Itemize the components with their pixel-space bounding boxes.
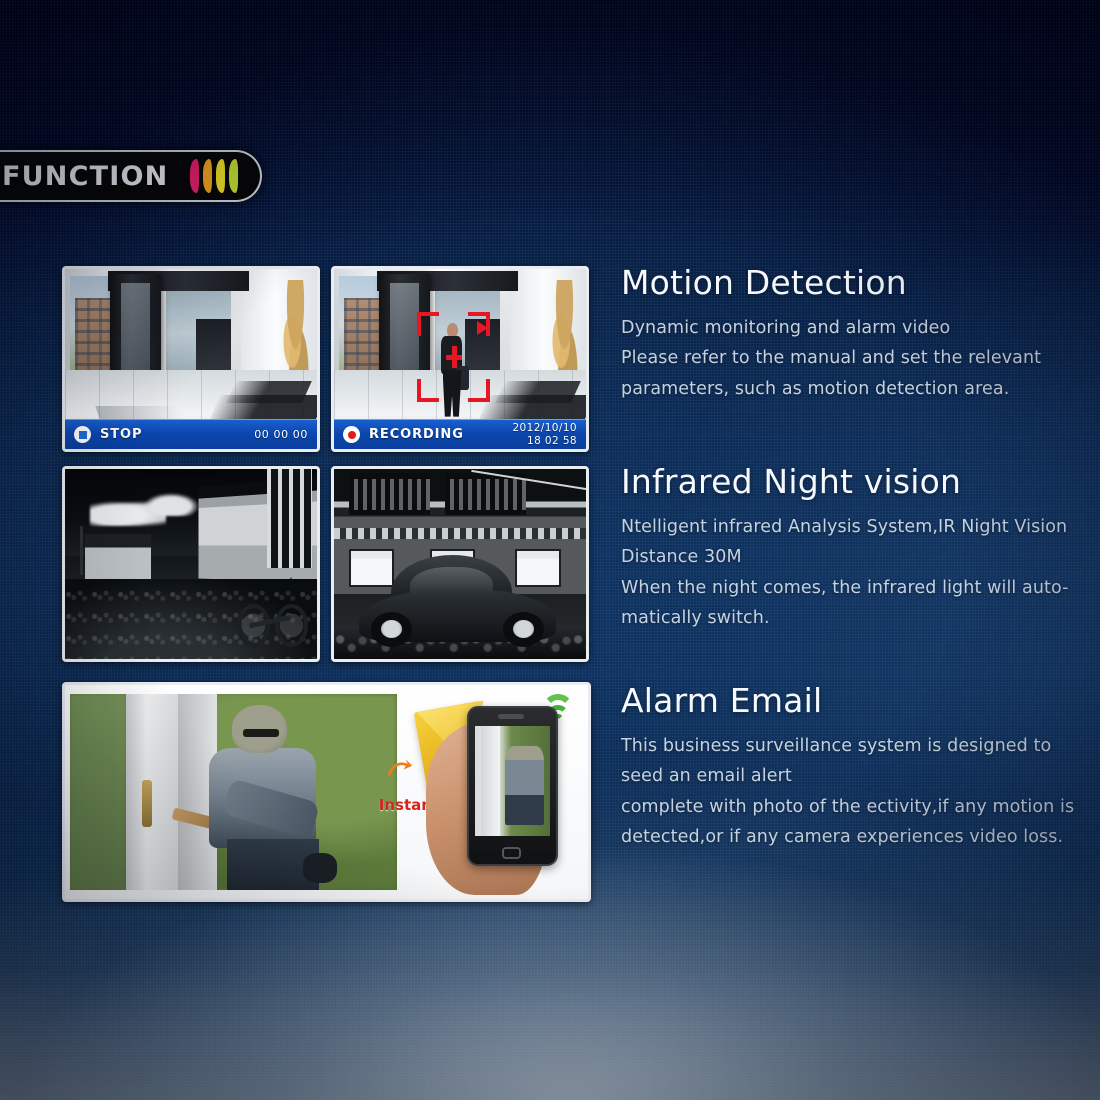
balcony-right — [445, 473, 526, 515]
hallway-motion-frame[interactable]: RECORDING 2012/10/10 18 02 58 — [331, 266, 589, 452]
bracket-bottom-left — [417, 379, 439, 402]
burglar-glove — [303, 853, 337, 883]
bracket-top-left — [417, 312, 439, 335]
distant-house — [85, 534, 151, 580]
utility-pole — [80, 526, 83, 575]
recording-date: 2012/10/10 — [512, 422, 577, 434]
alarm-email-graphic: Instant Email — [65, 685, 588, 899]
feature-line-2: Please refer to the manual and set the r… — [621, 343, 1083, 373]
player-status-bar-recording: RECORDING 2012/10/10 18 02 58 — [334, 419, 586, 449]
balcony-left — [349, 473, 430, 515]
player-timestamp: 2012/10/10 18 02 58 — [512, 422, 577, 447]
parked-car — [359, 558, 556, 642]
player-timecode: 00 00 00 — [254, 428, 308, 441]
burglar-photo — [70, 694, 397, 891]
striped-awning — [334, 528, 586, 539]
record-indicator-icon — [343, 426, 360, 443]
phone-home-button[interactable] — [502, 847, 521, 859]
hand-holding-phone — [426, 689, 583, 894]
bike-wheel-rear — [275, 604, 308, 646]
night-vision-car-photo — [334, 469, 586, 659]
feature-line-2: seed an email alert — [621, 761, 1093, 791]
player-state-label: RECORDING — [369, 427, 464, 442]
feature-line-4: detected,or if any camera experiences vi… — [621, 822, 1093, 852]
player-status-bar-stop: STOP 00 00 00 — [65, 419, 317, 449]
bicycle — [234, 581, 310, 649]
feature-page: FUNCTION — [0, 0, 1100, 1100]
night-street-frame[interactable] — [62, 466, 320, 662]
door-handle — [142, 780, 152, 827]
arrow-to-envelope-icon — [381, 758, 418, 777]
phone-screen — [475, 726, 550, 835]
feature-line-2: Distance 30M — [621, 542, 1093, 572]
stop-indicator-icon — [74, 426, 91, 443]
feature-line-1: This business surveillance system is des… — [621, 731, 1093, 761]
bracket-bottom-right — [468, 379, 490, 402]
burglar-eyes — [243, 729, 280, 736]
motion-tracking-brackets — [417, 312, 490, 402]
car-wheel-front — [371, 612, 412, 647]
feature-line-3: complete with photo of the ectivity,if a… — [621, 792, 1093, 822]
feature-infrared-night-vision: Infrared Night vision Ntelligent infrare… — [621, 462, 1093, 634]
window-bars — [267, 469, 312, 568]
feature-line-4: matically switch. — [621, 603, 1093, 633]
car-window — [410, 567, 493, 595]
night-vision-street-photo — [65, 469, 317, 659]
feature-line-1: Ntelligent infrared Analysis System,IR N… — [621, 512, 1093, 542]
phone-speaker — [498, 714, 524, 719]
feature-title: Motion Detection — [621, 263, 1083, 302]
door-panel — [126, 694, 182, 891]
car-wheel-rear — [503, 612, 544, 647]
bracket-top-right — [468, 312, 490, 335]
player-state-label: STOP — [100, 427, 142, 442]
feature-title: Alarm Email — [621, 681, 1093, 720]
cloud-right — [141, 492, 201, 517]
crosshair-vertical-icon — [452, 346, 457, 368]
night-car-frame[interactable] — [331, 466, 589, 662]
feature-alarm-email: Alarm Email This business surveillance s… — [621, 681, 1093, 853]
feature-line-3: When the night comes, the infrared light… — [621, 573, 1093, 603]
screen-burglar — [505, 746, 544, 825]
hallway-stopped-frame[interactable]: STOP 00 00 00 — [62, 266, 320, 452]
masked-burglar — [201, 705, 332, 890]
recording-time: 18 02 58 — [527, 435, 577, 447]
feature-motion-detection: Motion Detection Dynamic monitoring and … — [621, 263, 1083, 404]
feature-line-1: Dynamic monitoring and alarm video — [621, 313, 1083, 343]
feature-line-3: parameters, such as motion detection are… — [621, 374, 1083, 404]
tracking-arrow-icon — [477, 321, 488, 335]
smartphone-icon — [467, 706, 558, 866]
screen-door — [481, 726, 500, 835]
feature-title: Infrared Night vision — [621, 462, 1093, 501]
alarm-email-diagram[interactable]: Instant Email — [62, 682, 591, 902]
